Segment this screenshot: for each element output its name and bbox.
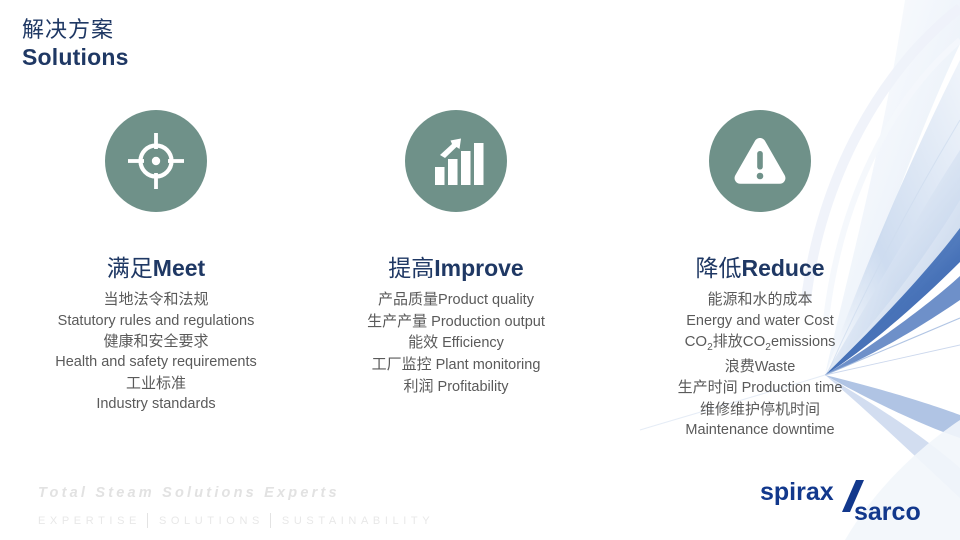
list-item: 维修维护停机时间 [700, 399, 820, 420]
bar-chart-growth-icon [405, 110, 507, 212]
column-lines-meet: 当地法令和法规 Statutory rules and regulations … [55, 289, 257, 415]
column-heading-reduce-cn: 降低 [695, 255, 741, 281]
solution-column-meet: 满足Meet 当地法令和法规 Statutory rules and regul… [6, 110, 306, 415]
list-item: 当地法令和法规 [103, 289, 208, 310]
footer: Total Steam Solutions Experts EXPERTISE … [38, 485, 434, 528]
footer-pillar-expertise: EXPERTISE [38, 515, 141, 527]
list-item-cn: 利润 [404, 378, 434, 395]
list-item: Health and safety requirements [55, 352, 257, 373]
page-title-cn: 解决方案 [22, 18, 129, 43]
list-item-en: Waste [755, 359, 796, 375]
list-item-cn: 能效 [408, 334, 438, 351]
list-item: 能效 Efficiency [408, 332, 504, 354]
column-lines-reduce: 能源和水的成本 Energy and water Cost CO2排放CO2em… [678, 289, 843, 440]
list-item: 生产产量 Production output [367, 311, 545, 333]
footer-pillar-solutions: SOLUTIONS [159, 515, 264, 527]
list-item-cn: 产品质量 [378, 291, 438, 308]
column-heading-meet: 满足Meet [107, 256, 205, 281]
list-item: 工厂监控 Plant monitoring [372, 354, 541, 376]
list-item-co2: CO2排放CO2emissions [685, 331, 836, 355]
list-item: 利润 Profitability [404, 376, 509, 398]
solution-column-improve: 提高Improve 产品质量Product quality 生产产量 Produ… [306, 110, 606, 397]
logo-word-sarco: sarco [854, 498, 921, 526]
list-item: 产品质量Product quality [378, 289, 534, 311]
list-item: Maintenance downtime [685, 420, 834, 441]
co2-en-rest: emissions [771, 334, 835, 350]
list-item-cn: 生产时间 [678, 379, 738, 396]
list-item-en: Production output [427, 314, 545, 330]
list-item-cn: 浪费 [725, 358, 755, 375]
co2-cn-prefix: CO [685, 333, 708, 350]
list-item: Statutory rules and regulations [58, 311, 255, 332]
warning-triangle-icon [709, 110, 811, 212]
column-lines-improve: 产品质量Product quality 生产产量 Production outp… [367, 289, 545, 397]
spirax-sarco-logo: spirax sarco [756, 474, 942, 526]
list-item: Energy and water Cost [686, 311, 834, 332]
list-item-cn: 生产产量 [367, 313, 427, 330]
slide-canvas: 解决方案 Solutions 满足Meet 当地法令和法规 St [0, 0, 960, 540]
column-heading-reduce-en: Reduce [741, 255, 824, 281]
solutions-columns: 满足Meet 当地法令和法规 Statutory rules and regul… [0, 110, 960, 441]
list-item-en: Production time [738, 380, 843, 396]
list-item: 能源和水的成本 [707, 289, 812, 310]
page-title: 解决方案 Solutions [22, 18, 129, 70]
column-heading-improve-cn: 提高 [388, 255, 434, 281]
co2-cn-rest: 排放 [713, 333, 743, 350]
crosshair-target-icon [105, 110, 207, 212]
co2-en-prefix: CO [743, 333, 766, 350]
column-heading-meet-en: Meet [153, 255, 205, 281]
pillar-divider [270, 513, 271, 528]
column-heading-reduce: 降低Reduce [695, 256, 824, 281]
footer-pillar-sustainability: SUSTAINABILITY [282, 515, 434, 527]
list-item: Industry standards [96, 394, 215, 415]
solution-column-reduce: 降低Reduce 能源和水的成本 Energy and water Cost C… [610, 110, 910, 441]
list-item-en: Profitability [434, 379, 509, 395]
list-item: 工业标准 [126, 373, 186, 394]
list-item: 生产时间 Production time [678, 377, 843, 399]
column-heading-improve-en: Improve [434, 255, 523, 281]
column-heading-meet-cn: 满足 [107, 255, 153, 281]
list-item-en: Product quality [438, 292, 534, 308]
page-title-en: Solutions [22, 45, 129, 71]
list-item: 浪费Waste [725, 356, 796, 378]
footer-pillars: EXPERTISE SOLUTIONS SUSTAINABILITY [38, 513, 434, 528]
list-item: 健康和安全要求 [103, 331, 208, 352]
pillar-divider [147, 513, 148, 528]
list-item-cn: 工厂监控 [372, 356, 432, 373]
list-item-en: Plant monitoring [432, 357, 541, 373]
column-heading-improve: 提高Improve [388, 256, 523, 281]
logo-word-spirax: spirax [760, 478, 834, 506]
footer-tagline: Total Steam Solutions Experts [38, 485, 434, 501]
list-item-en: Efficiency [438, 335, 504, 351]
